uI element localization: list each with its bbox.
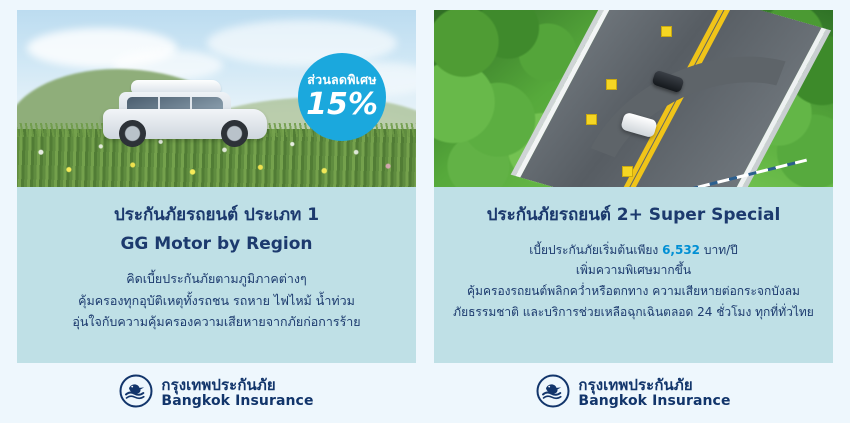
logo-thai-name: กรุงเทพประกันภัย bbox=[578, 377, 730, 394]
promo-card-list: ส่วนลดพิเศษ 15% ประกันภัยรถยนต์ ประเภท 1… bbox=[0, 0, 850, 423]
card-body-type1: ประกันภัยรถยนต์ ประเภท 1 GG Motor by Reg… bbox=[17, 187, 416, 363]
promo-card-type1[interactable]: ส่วนลดพิเศษ 15% ประกันภัยรถยนต์ ประเภท 1… bbox=[17, 10, 416, 423]
description-line: คิดเบี้ยประกันภัยตามภูมิภาคต่างๆ bbox=[29, 268, 404, 290]
logo-english-name: Bangkok Insurance bbox=[161, 394, 313, 410]
discount-badge-label: ส่วนลดพิเศษ bbox=[307, 74, 376, 87]
logo-text-block: กรุงเทพประกันภัย Bangkok Insurance bbox=[161, 377, 313, 409]
brand-logo-right: กรุงเทพประกันภัย Bangkok Insurance bbox=[434, 363, 833, 423]
chevron-sign-icon bbox=[622, 166, 633, 177]
bangkok-insurance-logo-icon bbox=[536, 374, 570, 412]
card-body-2plus: ประกันภัยรถยนต์ 2+ Super Special เบี้ยปร… bbox=[434, 187, 833, 363]
card-description: เบี้ยประกันภัยเริ่มต้นเพียง 6,532 บาท/ปี… bbox=[446, 240, 821, 323]
suv-vehicle bbox=[103, 85, 267, 147]
hero-image-mountain-road bbox=[434, 10, 833, 187]
cloud-shape bbox=[207, 20, 397, 66]
card-title-line2: GG Motor by Region bbox=[29, 232, 404, 257]
chevron-sign-icon bbox=[586, 114, 597, 125]
brand-logo-left: กรุงเทพประกันภัย Bangkok Insurance bbox=[17, 363, 416, 423]
chevron-sign-icon bbox=[606, 79, 617, 90]
discount-badge: ส่วนลดพิเศษ 15% bbox=[298, 53, 386, 141]
suv-wheel bbox=[221, 120, 248, 147]
logo-text-block: กรุงเทพประกันภัย Bangkok Insurance bbox=[578, 377, 730, 409]
description-line: เพิ่มความพิเศษมากขึ้น bbox=[446, 260, 821, 281]
logo-thai-name: กรุงเทพประกันภัย bbox=[161, 377, 313, 394]
description-line: คุ้มครองรถยนต์พลิกคว่ำหรือตกทาง ความเสีย… bbox=[446, 281, 821, 302]
suv-wheel bbox=[119, 120, 146, 147]
logo-english-name: Bangkok Insurance bbox=[578, 394, 730, 410]
bangkok-insurance-logo-icon bbox=[119, 374, 153, 412]
road-scene bbox=[434, 10, 833, 187]
price-suffix-text: บาท/ปี bbox=[700, 243, 738, 257]
promo-banner: ส่วนลดพิเศษ 15% ประกันภัยรถยนต์ ประเภท 1… bbox=[0, 0, 850, 423]
hero-image-suv-meadow: ส่วนลดพิเศษ 15% bbox=[17, 10, 416, 187]
chevron-sign-icon bbox=[661, 26, 672, 37]
description-line: อุ่นใจกับความคุ้มครองความเสียหายจากภัยก่… bbox=[29, 311, 404, 333]
description-line-price: เบี้ยประกันภัยเริ่มต้นเพียง 6,532 บาท/ปี bbox=[446, 240, 821, 261]
description-line: คุ้มครองทุกอุบัติเหตุทั้งรถชน รถหาย ไฟไห… bbox=[29, 290, 404, 312]
card-title-line1: ประกันภัยรถยนต์ 2+ Super Special bbox=[446, 203, 821, 228]
price-value: 6,532 bbox=[662, 243, 700, 257]
price-prefix-text: เบี้ยประกันภัยเริ่มต้นเพียง bbox=[529, 243, 662, 257]
promo-card-2plus[interactable]: ประกันภัยรถยนต์ 2+ Super Special เบี้ยปร… bbox=[434, 10, 833, 423]
card-description: คิดเบี้ยประกันภัยตามภูมิภาคต่างๆ คุ้มครอ… bbox=[29, 268, 404, 333]
discount-badge-value: 15% bbox=[306, 90, 378, 120]
card-title-line1: ประกันภัยรถยนต์ ประเภท 1 bbox=[29, 203, 404, 228]
description-line: ภัยธรรมชาติ และบริการช่วยเหลือฉุกเฉินตลอ… bbox=[446, 302, 821, 323]
